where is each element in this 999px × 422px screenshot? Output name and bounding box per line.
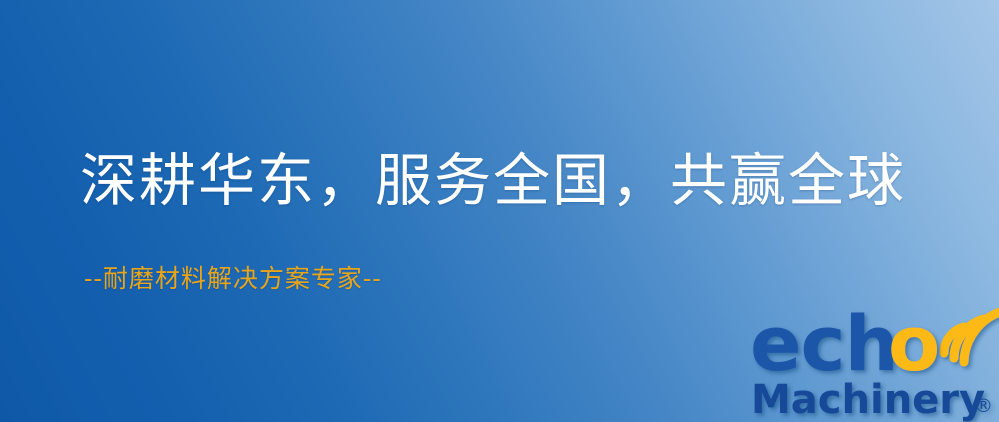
banner-subtitle: --耐磨材料解决方案专家-- bbox=[84, 266, 382, 291]
banner-headline: 深耕华东，服务全国，共赢全球 bbox=[80, 153, 906, 210]
logo-trademark-symbol: ® bbox=[974, 395, 993, 417]
echo-machinery-logo: ech o Machinery ® bbox=[748, 296, 999, 422]
logo-wordmark-o: o bbox=[888, 299, 940, 388]
logo-wordmark-echo-prefix: ech bbox=[750, 299, 898, 388]
promo-banner: 深耕华东，服务全国，共赢全球 --耐磨材料解决方案专家-- ech o bbox=[0, 0, 999, 422]
signal-waves-icon bbox=[944, 311, 999, 362]
logo-subword-machinery: Machinery bbox=[751, 377, 985, 422]
